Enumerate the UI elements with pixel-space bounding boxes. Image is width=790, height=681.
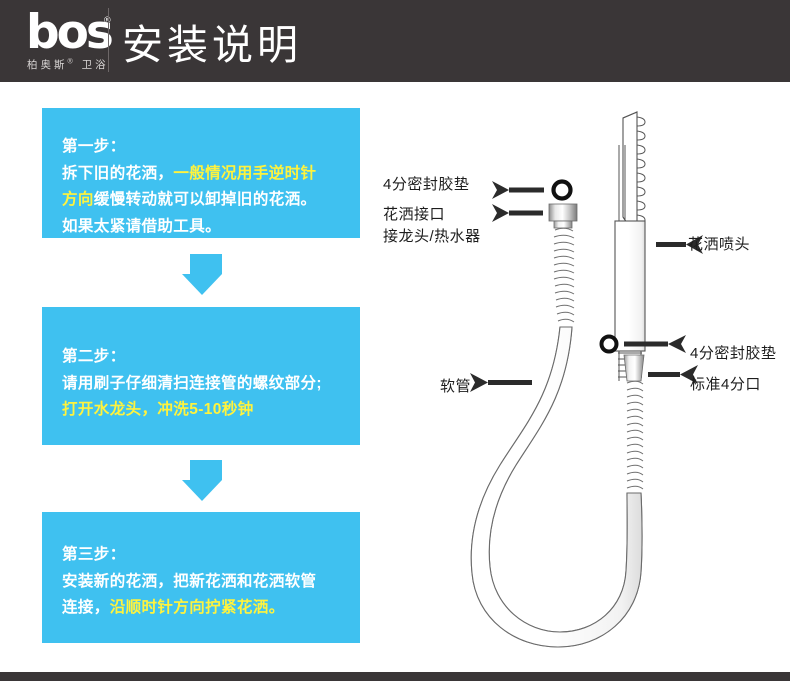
flow-arrow-1-stem	[190, 254, 222, 274]
label-connector-2: 接龙头/热水器	[383, 225, 481, 246]
logo-wordmark: bos	[26, 9, 111, 57]
step-3-text: 第三步： 安装新的花洒，把新花洒和花洒软管 连接，沿顺时针方向拧紧花洒。	[62, 542, 348, 622]
step-2-title: 第二步：	[62, 348, 126, 365]
step-box-3: 第三步： 安装新的花洒，把新花洒和花洒软管 连接，沿顺时针方向拧紧花洒。	[42, 512, 360, 643]
hose-tube-graphic	[471, 327, 642, 647]
step-2-l1: 请用刷子仔细清扫连接管的螺纹部分;	[62, 375, 322, 392]
shower-wand-graphic	[615, 112, 645, 381]
arrow-to-top-gasket-icon	[492, 181, 544, 199]
arrow-to-hose-icon	[470, 373, 532, 392]
hose-connector-nut-graphic	[549, 204, 577, 228]
header-divider	[108, 8, 109, 72]
gasket-right-icon	[602, 337, 617, 352]
label-standard-port: 标准4分口	[690, 373, 761, 394]
step-box-1: 第一步： 拆下旧的花洒，一般情况用手逆时针 方向缓慢转动就可以卸掉旧的花洒。 如…	[42, 108, 360, 238]
step-2-l2: 打开水龙头，冲洗5-10秒钟	[62, 401, 254, 418]
page-title: 安装说明	[122, 11, 302, 71]
step-1-l1b: 一般情况用手逆时针	[173, 165, 316, 182]
step-3-l2a: 连接，	[62, 599, 110, 616]
step-1-text: 第一步： 拆下旧的花洒，一般情况用手逆时针 方向缓慢转动就可以卸掉旧的花洒。 如…	[62, 134, 348, 240]
label-hose: 软管	[440, 375, 471, 396]
page-header: bos ® 柏奥斯® 卫浴 安装说明	[0, 0, 790, 82]
standard-port-connector-graphic	[624, 355, 644, 381]
brand-logo: bos ® 柏奥斯® 卫浴	[26, 9, 118, 75]
label-spray-head: 花洒喷头	[688, 233, 750, 254]
step-1-l2a: 方向	[62, 191, 94, 208]
hose-coil-upper-graphic	[554, 228, 574, 322]
step-1-l2b: 缓慢转动就可以卸掉旧的花洒。	[94, 191, 317, 208]
logo-subtitle-registered: ®	[68, 59, 76, 66]
gasket-top-icon	[554, 182, 571, 199]
step-1-title: 第一步：	[62, 138, 126, 155]
logo-subtitle: 柏奥斯® 卫浴	[27, 57, 109, 72]
step-3-title: 第三步：	[62, 546, 126, 563]
logo-subtitle-cn: 柏奥斯	[27, 59, 68, 71]
hose-coil-lower-graphic	[627, 381, 643, 489]
logo-subtitle-category: 卫浴	[82, 59, 109, 71]
flow-arrow-1-head-icon	[182, 274, 222, 295]
installation-instruction-page: bos ® 柏奥斯® 卫浴 安装说明 第一步： 拆下旧的花洒，一般情况用手逆时针…	[0, 0, 790, 681]
step-2-text: 第二步： 请用刷子仔细清扫连接管的螺纹部分; 打开水龙头，冲洗5-10秒钟	[62, 344, 348, 424]
label-connector-1: 花洒接口	[383, 203, 445, 224]
label-gasket-top: 4分密封胶垫	[383, 173, 469, 194]
step-1-l1a: 拆下旧的花洒，	[62, 165, 173, 182]
arrow-to-connector-icon	[492, 204, 543, 222]
flow-arrow-2-stem	[190, 460, 222, 480]
step-3-l2b: 沿顺时针方向拧紧花洒。	[110, 599, 285, 616]
bottom-bar	[0, 672, 790, 681]
step-3-l1: 安装新的花洒，把新花洒和花洒软管	[62, 573, 316, 590]
step-1-l3: 如果太紧请借助工具。	[62, 218, 221, 235]
step-box-2: 第二步： 请用刷子仔细清扫连接管的螺纹部分; 打开水龙头，冲洗5-10秒钟	[42, 307, 360, 445]
flow-arrow-2-head-icon	[182, 480, 222, 501]
label-gasket-right: 4分密封胶垫	[690, 342, 776, 363]
